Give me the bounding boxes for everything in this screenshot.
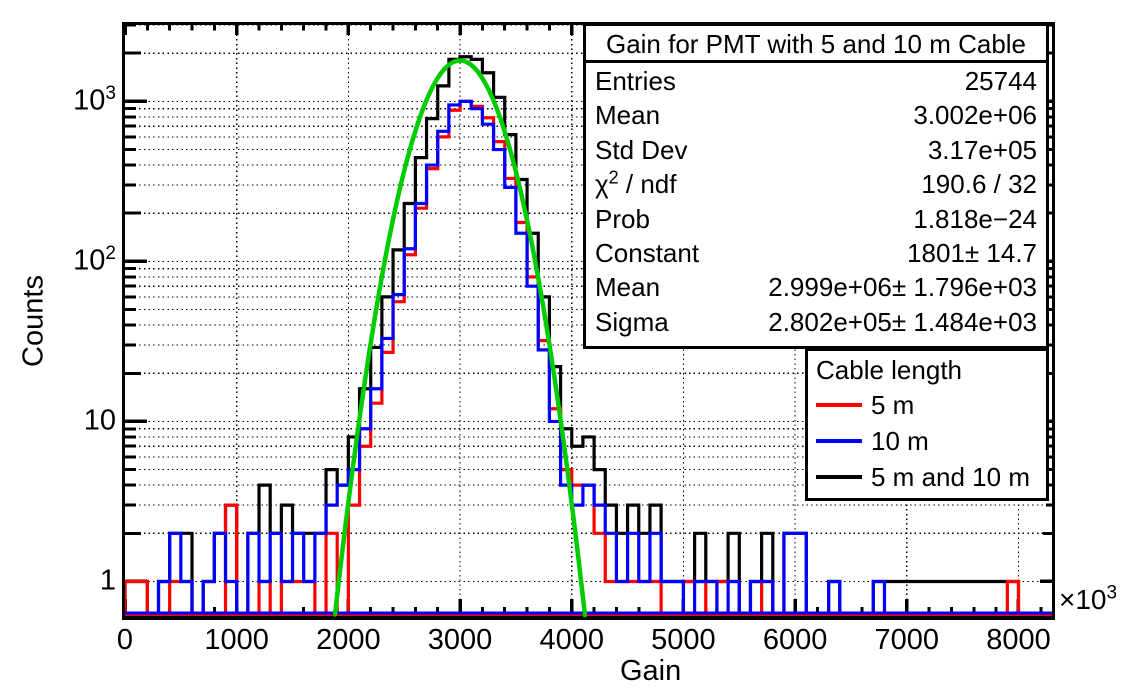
stats-row-std-dev: Std Dev 3.17e+05 <box>595 133 1037 167</box>
stats-value-chi2-ndf: 190.6 / 32 <box>921 167 1037 201</box>
y-axis-title: Counts <box>18 275 51 367</box>
x-tick-label-3000: 3000 <box>428 624 493 657</box>
chi-exponent: 2 <box>609 168 619 188</box>
x-axis-exponent-base: ×10 <box>1059 584 1107 615</box>
legend-swatch-icon <box>816 403 862 407</box>
stats-row-chi2-ndf: χ2 / ndf 190.6 / 32 <box>595 167 1037 201</box>
stats-row-entries: Entries 25744 <box>595 64 1037 98</box>
legend-box[interactable]: Cable length 5 m10 m5 m and 10 m <box>805 348 1049 501</box>
legend-swatch-icon <box>816 475 862 479</box>
stats-label-entries: Entries <box>595 64 676 98</box>
chart-canvas: Counts Gain ×103 110102103 0100020003000… <box>0 0 1121 693</box>
y-tick-base: 10 <box>73 245 105 277</box>
x-tick-label-4000: 4000 <box>539 624 604 657</box>
statistics-rows: Entries 25744 Mean 3.002e+06 Std Dev 3.1… <box>586 63 1046 346</box>
y-tick-exponent: 2 <box>105 243 116 264</box>
stats-row-prob: Prob 1.818e−24 <box>595 202 1037 236</box>
stats-row-mean: Mean 3.002e+06 <box>595 98 1037 132</box>
y-tick-base: 1 <box>100 565 116 597</box>
legend-entry-10-m[interactable]: 10 m <box>816 423 1046 459</box>
stats-value-mean: 3.002e+06 <box>913 98 1037 132</box>
x-axis-title: Gain <box>620 655 681 688</box>
y-tick-exponent: 3 <box>105 83 116 104</box>
ndf-text: / ndf <box>619 169 677 199</box>
y-tick-label-100: 102 <box>73 245 116 278</box>
stats-row-fit-mean: Mean 2.999e+06± 1.796e+03 <box>595 270 1037 304</box>
stats-value-entries: 25744 <box>965 64 1037 98</box>
stats-row-sigma: Sigma 2.802e+05± 1.484e+03 <box>595 305 1037 339</box>
stats-value-sigma: 2.802e+05± 1.484e+03 <box>768 305 1037 339</box>
y-tick-label-1000: 103 <box>73 85 116 118</box>
stats-row-constant: Constant 1801± 14.7 <box>595 236 1037 270</box>
stats-label-prob: Prob <box>595 202 650 236</box>
stats-label-sigma: Sigma <box>595 305 669 339</box>
stats-label-std-dev: Std Dev <box>595 133 688 167</box>
stats-label-constant: Constant <box>595 236 699 270</box>
chi-symbol: χ <box>595 169 609 199</box>
x-tick-label-0: 0 <box>117 624 133 657</box>
statistics-box[interactable]: Gain for PMT with 5 and 10 m Cable Entri… <box>583 23 1049 349</box>
legend-swatch-icon <box>816 439 862 443</box>
statistics-box-title: Gain for PMT with 5 and 10 m Cable <box>586 26 1046 63</box>
y-tick-base: 10 <box>73 85 105 117</box>
legend-entry-label: 5 m and 10 m <box>871 462 1030 493</box>
legend-entry-5-m-and-10-m[interactable]: 5 m and 10 m <box>816 459 1046 495</box>
stats-value-constant: 1801± 14.7 <box>907 236 1037 270</box>
y-tick-base: 10 <box>84 405 116 437</box>
x-tick-label-6000: 6000 <box>763 624 828 657</box>
stats-value-prob: 1.818e−24 <box>913 202 1037 236</box>
x-tick-label-5000: 5000 <box>651 624 716 657</box>
x-tick-label-7000: 7000 <box>875 624 940 657</box>
legend-entries: 5 m10 m5 m and 10 m <box>816 387 1046 495</box>
stats-value-std-dev: 3.17e+05 <box>928 133 1037 167</box>
stats-label-chi2-ndf: χ2 / ndf <box>595 167 677 201</box>
stats-label-fit-mean: Mean <box>595 270 660 304</box>
legend-title: Cable length <box>816 353 1046 387</box>
legend-entry-label: 5 m <box>871 390 914 421</box>
stats-label-mean: Mean <box>595 98 660 132</box>
legend-entry-label: 10 m <box>871 426 929 457</box>
y-tick-label-10: 10 <box>84 405 116 438</box>
x-tick-label-2000: 2000 <box>316 624 381 657</box>
stats-value-fit-mean: 2.999e+06± 1.796e+03 <box>768 270 1037 304</box>
x-tick-label-8000: 8000 <box>986 624 1051 657</box>
x-axis-exponent: ×103 <box>1059 584 1117 616</box>
x-axis-exponent-power: 3 <box>1107 583 1118 604</box>
x-tick-label-1000: 1000 <box>204 624 269 657</box>
y-tick-label-1: 1 <box>100 565 116 598</box>
legend-entry-5-m[interactable]: 5 m <box>816 387 1046 423</box>
